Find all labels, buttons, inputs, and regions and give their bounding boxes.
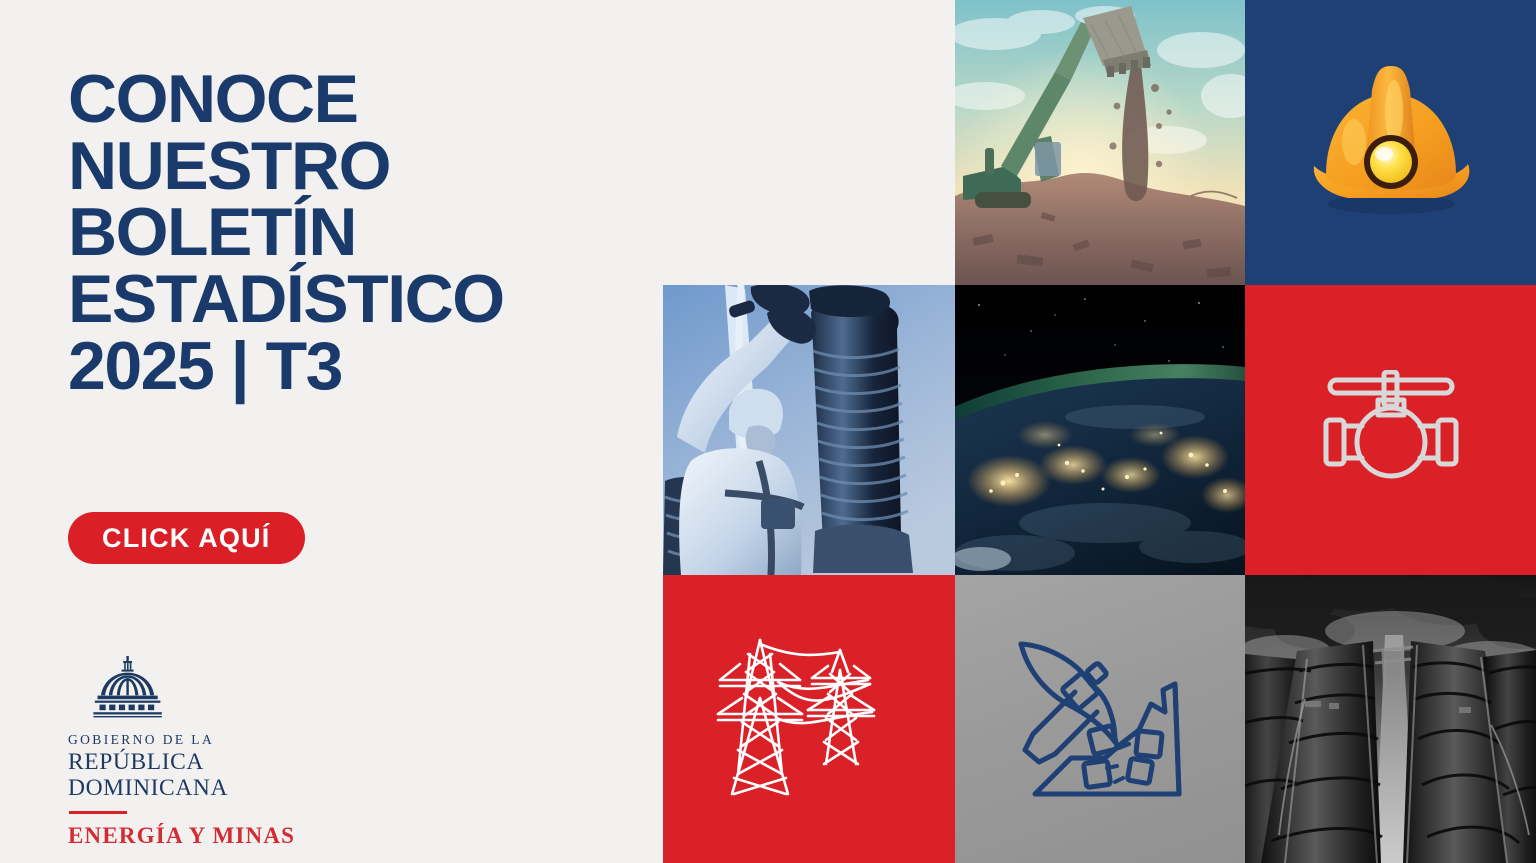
tile-icon-mining-helmet bbox=[1245, 0, 1536, 285]
tile-photo-storage-tanks bbox=[1245, 575, 1536, 863]
tile-photo-excavator bbox=[955, 0, 1245, 285]
logo-line-energia-y-minas: ENERGÍA Y MINAS bbox=[68, 823, 358, 848]
pipeline-valve-icon bbox=[1316, 370, 1466, 490]
transmission-tower-icon bbox=[716, 634, 902, 804]
promo-banner: CONOCE NUESTRO BOLETÍN ESTADÍSTICO 2025 … bbox=[0, 0, 1536, 863]
electrical-lineman-photo bbox=[663, 285, 955, 575]
image-tile-grid bbox=[663, 0, 1536, 863]
tile-icon-power-towers bbox=[663, 575, 955, 863]
tile-icon-valve bbox=[1245, 285, 1536, 575]
storage-tanks-photo bbox=[1245, 575, 1536, 863]
tile-icon-pickaxe-mining bbox=[955, 575, 1245, 863]
logo-divider bbox=[69, 811, 127, 814]
logo-line-republica-dominicana: REPÚBLICA DOMINICANA bbox=[68, 750, 358, 802]
earth-night-photo bbox=[955, 285, 1245, 575]
excavator-photo bbox=[955, 0, 1245, 285]
left-content-panel: CONOCE NUESTRO BOLETÍN ESTADÍSTICO 2025 … bbox=[0, 0, 663, 863]
pickaxe-rock-icon bbox=[1015, 634, 1185, 804]
tile-photo-earth-at-night bbox=[955, 285, 1245, 575]
page-title: CONOCE NUESTRO BOLETÍN ESTADÍSTICO 2025 … bbox=[68, 66, 648, 399]
mining-helmet-icon bbox=[1296, 54, 1486, 232]
logo-line-gobierno: GOBIERNO DE LA bbox=[68, 732, 358, 749]
dominican-republic-dome-icon bbox=[74, 656, 182, 728]
click-here-button[interactable]: CLICK AQUÍ bbox=[68, 512, 305, 564]
tile-photo-lineman bbox=[663, 285, 955, 575]
government-logo: GOBIERNO DE LA REPÚBLICA DOMINICANA ENER… bbox=[68, 656, 358, 848]
tile-empty-top-left bbox=[663, 0, 955, 285]
